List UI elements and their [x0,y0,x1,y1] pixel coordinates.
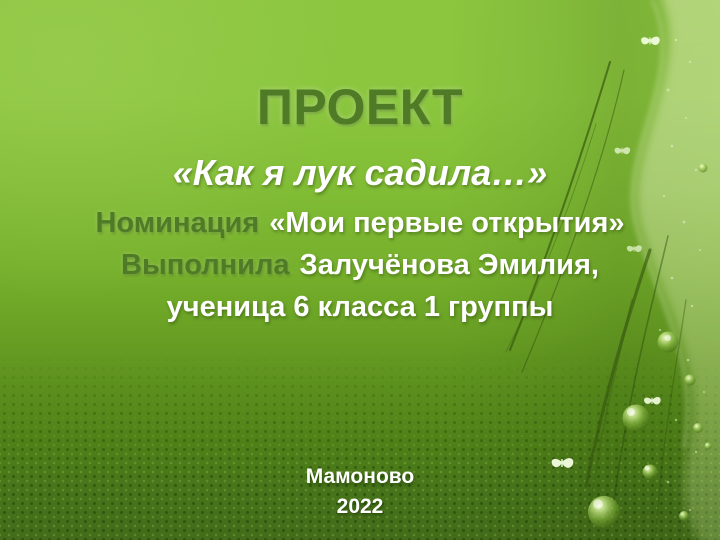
page-title: ПРОЕКТ [0,78,720,136]
class-line: ученица 6 класса 1 группы [167,291,554,323]
class-row: ученица 6 класса 1 группы [0,292,720,323]
footer-year: 2022 [0,492,720,522]
presentation-title-slide: ПРОЕКТ «Как я лук садила…» Номинация«Мои… [0,0,720,540]
slide-text-layer: ПРОЕКТ «Как я лук садила…» Номинация«Мои… [0,0,720,540]
author-name: Залучёнова Эмилия, [300,249,599,281]
nomination-row: Номинация«Мои первые открытия» [0,208,720,239]
nomination-value: «Мои первые открытия» [269,207,624,239]
project-subtitle: «Как я лук садила…» [0,152,720,194]
slide-footer: Мамоново 2022 [0,462,720,522]
author-label: Выполнила [121,249,290,281]
nomination-label: Номинация [95,207,259,239]
footer-place: Мамоново [0,462,720,492]
author-row: ВыполнилаЗалучёнова Эмилия, [0,250,720,281]
